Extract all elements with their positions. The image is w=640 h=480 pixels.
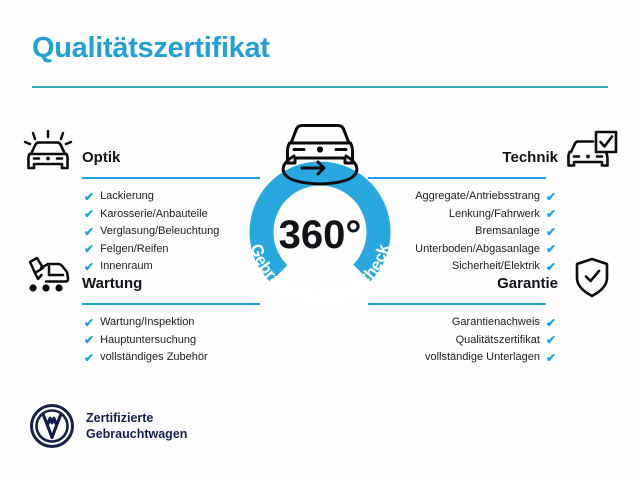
list-item-label: vollständige Unterlagen: [425, 349, 540, 367]
check-icon: ✔: [84, 243, 94, 255]
check-icon: ✔: [84, 208, 94, 220]
check-icon: ✔: [546, 243, 556, 255]
list-item-label: Qualitätszertifikat: [456, 332, 540, 350]
section-title-garantie: Garantie: [497, 275, 558, 292]
pen-car-service-icon: [22, 256, 74, 300]
list-item: ✔Garantienachweis: [368, 314, 618, 332]
volkswagen-footer: ZertifizierteGebrauchtwagen: [30, 404, 187, 448]
list-item: ✔vollständiges Zubehör: [22, 349, 272, 367]
check-icon: ✔: [546, 352, 556, 364]
check-icon: ✔: [84, 226, 94, 238]
badge-360-gebrauchtwagen-check: 360° Gebrauchtwagen-Check: [228, 112, 412, 308]
list-item: ✔Wartung/Inspektion: [22, 314, 272, 332]
volkswagen-logo: [30, 404, 74, 448]
page-title: Qualitätszertifikat: [32, 32, 270, 65]
list-item-label: Wartung/Inspektion: [100, 314, 194, 332]
check-icon: ✔: [546, 226, 556, 238]
footer-line-2: Gebrauchtwagen: [86, 427, 187, 441]
list-item-label: Bremsanlage: [475, 223, 540, 241]
checklist-wartung: ✔Wartung/Inspektion ✔Hauptuntersuchung ✔…: [22, 314, 272, 367]
check-icon: ✔: [84, 352, 94, 364]
check-icon: ✔: [546, 317, 556, 329]
footer-line-1: Zertifizierte: [86, 411, 153, 425]
list-item-label: vollständiges Zubehör: [100, 349, 208, 367]
list-item: ✔Qualitätszertifikat: [368, 332, 618, 350]
list-item-label: Garantienachweis: [452, 314, 540, 332]
check-icon: ✔: [84, 334, 94, 346]
list-item-label: Aggregate/Antriebsstrang: [415, 188, 540, 206]
list-item-label: Lenkung/Fahrwerk: [449, 206, 540, 224]
title-divider: [32, 86, 608, 88]
check-icon: ✔: [84, 191, 94, 203]
shield-check-icon: [566, 256, 618, 300]
checklist-garantie: ✔Garantienachweis ✔Qualitätszertifikat ✔…: [368, 314, 618, 367]
list-item-label: Karosserie/Anbauteile: [100, 206, 208, 224]
list-item-label: Verglasung/Beleuchtung: [100, 223, 219, 241]
section-title-optik: Optik: [82, 149, 120, 166]
list-item: ✔Hauptuntersuchung: [22, 332, 272, 350]
list-item-label: Lackierung: [100, 188, 154, 206]
car-shine-icon: [22, 130, 74, 174]
car-checkbox-icon: [566, 130, 618, 174]
list-item: ✔vollständige Unterlagen: [368, 349, 618, 367]
section-title-wartung: Wartung: [82, 275, 142, 292]
badge-degrees: 360°: [279, 213, 362, 257]
certificate-page: Qualitätszertifikat: [0, 0, 640, 480]
volkswagen-footer-text: ZertifizierteGebrauchtwagen: [86, 410, 187, 442]
check-icon: ✔: [84, 317, 94, 329]
check-icon: ✔: [546, 334, 556, 346]
check-icon: ✔: [546, 208, 556, 220]
section-title-technik: Technik: [502, 149, 558, 166]
check-icon: ✔: [546, 191, 556, 203]
list-item-label: Hauptuntersuchung: [100, 332, 196, 350]
